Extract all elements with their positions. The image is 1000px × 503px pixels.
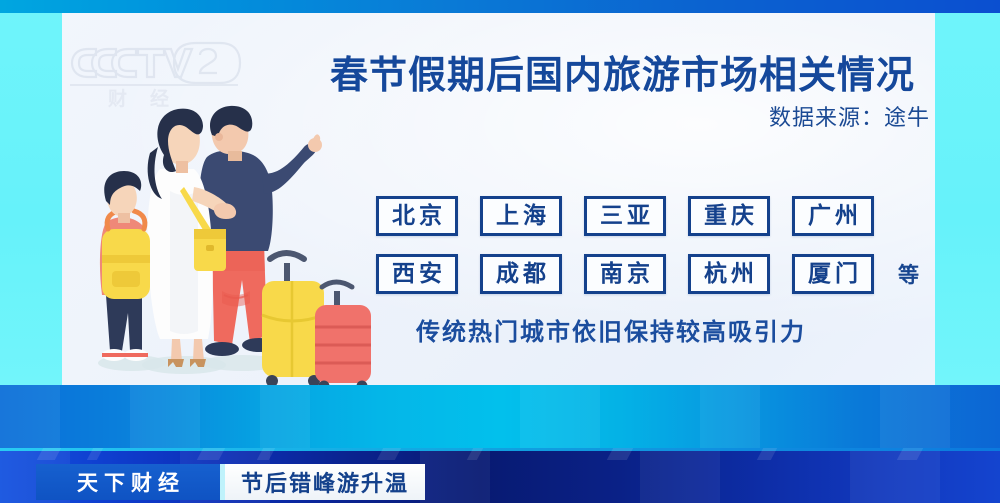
city-tag[interactable]: 厦门 xyxy=(792,254,874,294)
data-source-label: 数据来源：途牛 xyxy=(330,100,930,132)
city-tag-row-1: 北京 上海 三亚 重庆 广州 xyxy=(376,196,874,236)
etc-suffix-label: 等 xyxy=(898,259,919,289)
mid-gradient-band xyxy=(0,385,1000,448)
city-tag[interactable]: 三亚 xyxy=(584,196,666,236)
family-travelers-illustration xyxy=(72,95,382,385)
city-tag[interactable]: 北京 xyxy=(376,196,458,236)
summary-caption: 传统热门城市依旧保持较高吸引力 xyxy=(376,312,846,347)
broadcast-graphic-frame: 财 经 xyxy=(0,0,1000,503)
diagonal-stripe-overlay xyxy=(0,448,1000,460)
top-accent-bar xyxy=(0,0,1000,13)
city-tag[interactable]: 西安 xyxy=(376,254,458,294)
lower-third-banner: 天下财经 节后错峰游升温 xyxy=(36,464,425,500)
city-tag-row-2: 西安 成都 南京 杭州 厦门 等 xyxy=(376,254,919,294)
news-headline-label: 节后错峰游升温 xyxy=(225,464,425,500)
left-cyan-band xyxy=(0,13,62,385)
city-tag[interactable]: 杭州 xyxy=(688,254,770,294)
right-cyan-band xyxy=(935,13,1000,385)
city-tag[interactable]: 广州 xyxy=(792,196,874,236)
page-title: 春节假期后国内旅游市场相关情况 xyxy=(330,44,930,99)
city-tag[interactable]: 成都 xyxy=(480,254,562,294)
program-name-label: 天下财经 xyxy=(36,464,220,500)
city-tag[interactable]: 南京 xyxy=(584,254,666,294)
city-tag[interactable]: 重庆 xyxy=(688,196,770,236)
city-tag[interactable]: 上海 xyxy=(480,196,562,236)
